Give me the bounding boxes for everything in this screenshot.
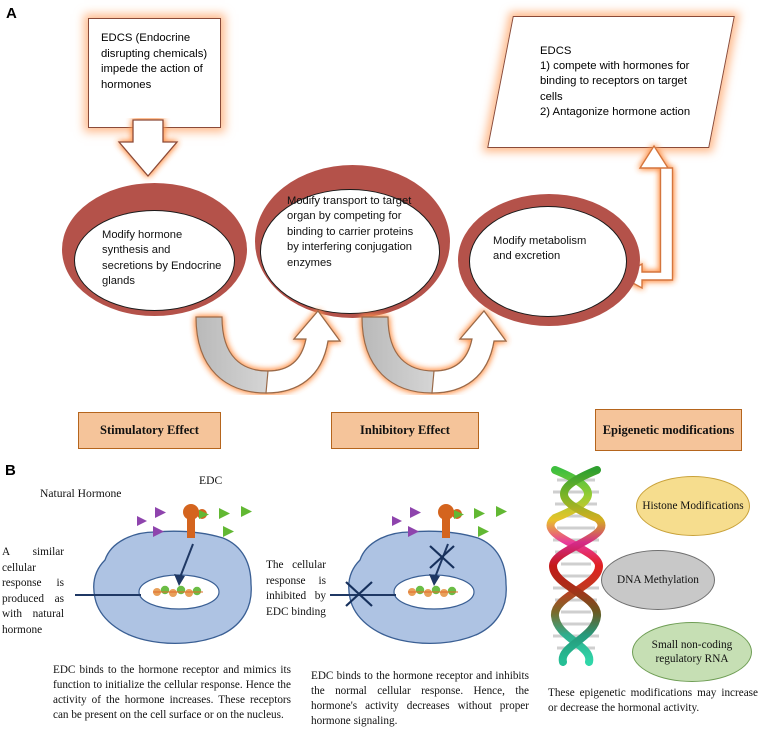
oval-small-noncoding-rna[interactable]: Small non-coding regulatory RNA	[632, 622, 752, 682]
down-arrow-to-synthesis	[110, 118, 200, 188]
edcs-mechanism-parallelogram: EDCS 1) compete with hormones for bindin…	[500, 16, 720, 146]
text-similar-cellular-response: A similar cellular response is produced …	[2, 545, 64, 639]
text-response-inhibited: The cellular response is inhibited by ED…	[266, 558, 326, 620]
ellipse-metabolism-text: Modify metabolism and excretion	[493, 234, 598, 265]
ellipse-modify-transport: Modify transport to target organ by comp…	[255, 165, 450, 318]
caption-inhibitory: EDC binds to the hormone receptor and in…	[311, 669, 529, 729]
edcs-description-box: EDCS (Endocrine disrupting chemicals) im…	[88, 18, 221, 128]
curved-arrow-stimulatory	[182, 305, 362, 395]
label-inhibitory-effect[interactable]: Inhibitory Effect	[331, 412, 479, 449]
label-edc: EDC	[199, 474, 222, 487]
cell-diagram-inhibitory	[330, 488, 515, 653]
label-epigenetic-modifications[interactable]: Epigenetic modifications	[595, 409, 742, 451]
curved-arrow-inhibitory	[348, 305, 528, 395]
panel-b-letter: B	[5, 462, 16, 479]
cell-diagram-stimulatory	[75, 488, 260, 653]
edcs-description-text: EDCS (Endocrine disrupting chemicals) im…	[101, 32, 207, 91]
ellipse-modify-synthesis: Modify hormone synthesis and secretions …	[62, 183, 247, 316]
oval-histone-modifications[interactable]: Histone Modifications	[636, 476, 750, 536]
ellipse-synthesis-text: Modify hormone synthesis and secretions …	[102, 228, 222, 290]
oval-dna-methylation[interactable]: DNA Methylation	[601, 550, 715, 610]
dna-double-helix	[543, 466, 611, 666]
caption-stimulatory: EDC binds to the hormone receptor and mi…	[53, 663, 291, 723]
panel-a-letter: A	[6, 5, 17, 22]
ellipse-transport-text: Modify transport to target organ by comp…	[287, 194, 415, 271]
label-stimulatory-effect[interactable]: Stimulatory Effect	[78, 412, 221, 449]
parallelogram-text: EDCS 1) compete with hormones for bindin…	[540, 44, 705, 120]
caption-epigenetic: These epigenetic modifications may incre…	[548, 686, 758, 716]
